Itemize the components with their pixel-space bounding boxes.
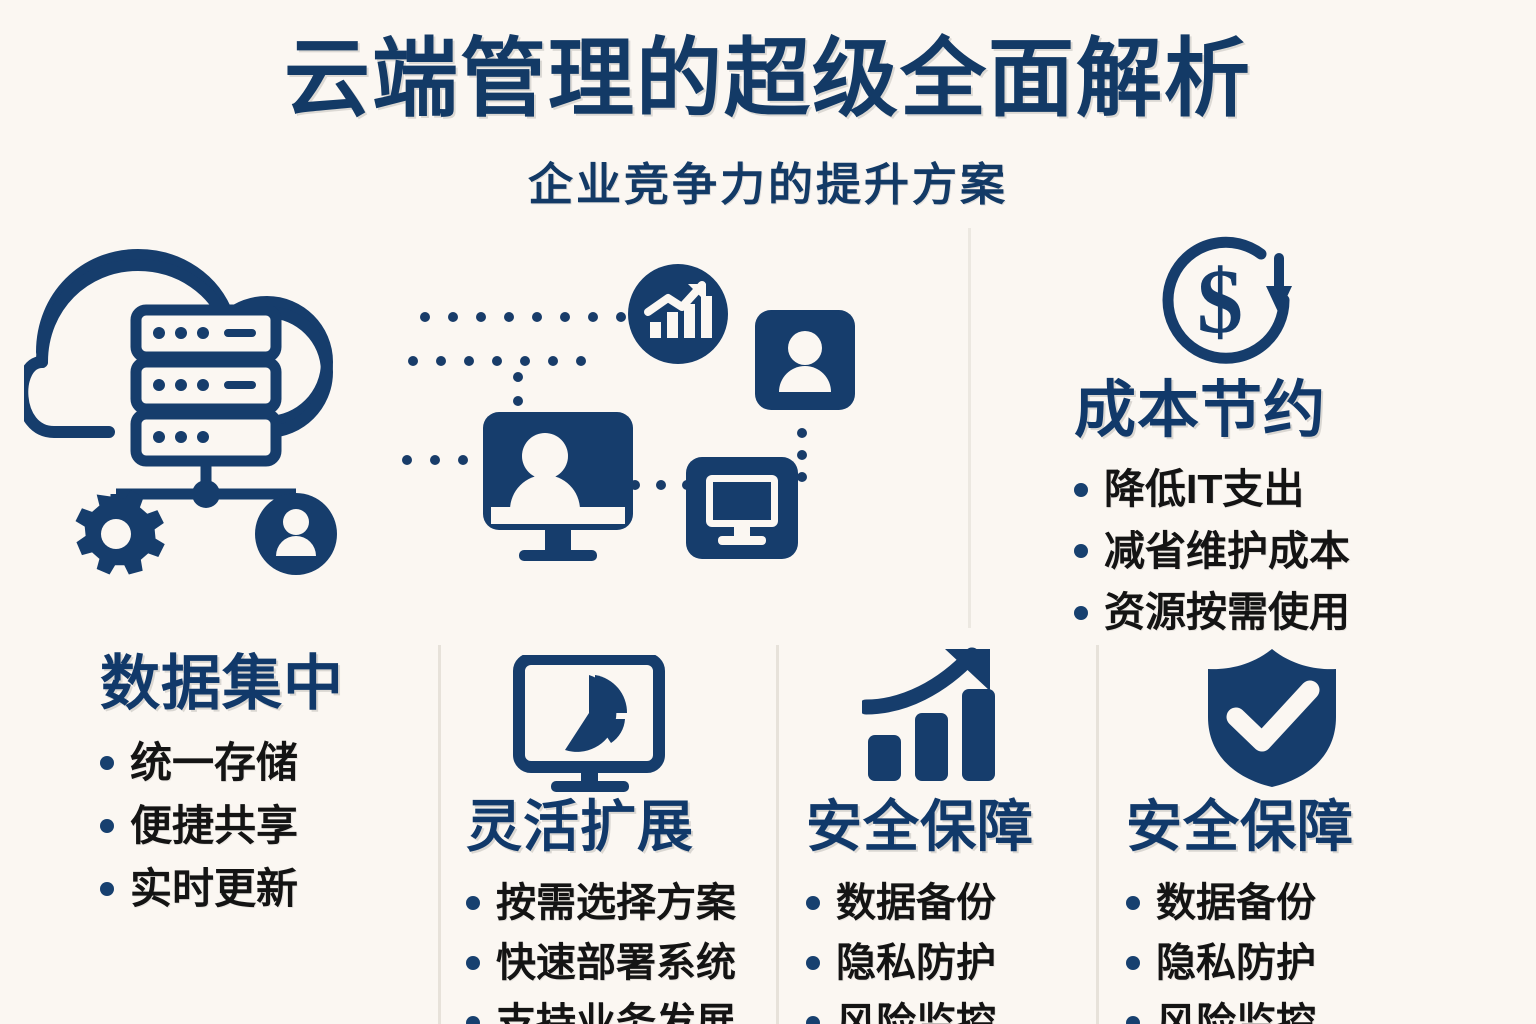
display-icon [686,457,798,564]
bullet-text: 隐私防护 [1156,933,1316,993]
bullet-text: 降低IT支出 [1104,459,1304,521]
bullet-dot [466,956,480,970]
bullet-text: 便捷共享 [130,794,298,857]
cloud-server-icon [24,212,424,632]
bullet-dot [100,882,114,896]
growth-chart-circle-icon [626,262,730,371]
infographic-canvas: 云端管理的超级全面解析 企业竞争力的提升方案 [0,0,1536,1024]
bullet-text: 快速部署系统 [496,933,736,993]
dotted-connector-monitor-display [630,480,692,490]
pie-chart-monitor-icon [505,655,675,800]
block-flexible-scaling: 灵活扩展 按需选择方案 快速部署系统 支持业务发展 [466,798,786,1024]
bullet-text: 实时更新 [130,857,298,920]
bullet-dot [466,1016,480,1024]
list-item: 快速部署系统 [466,933,786,993]
bullet-dot [1074,544,1088,558]
list-item: 实时更新 [100,857,440,920]
page-subtitle: 企业竞争力的提升方案 [0,148,1536,213]
list-item: 隐私防护 [1126,933,1426,993]
list-item: 数据备份 [806,873,1106,933]
bullet-dot [1126,1016,1140,1024]
bullet-text: 隐私防护 [836,933,996,993]
block-cost-heading: 成本节约 [1074,378,1514,443]
bullet-dot [806,956,820,970]
list-item: 统一存储 [100,731,440,794]
user-card-icon [755,310,855,415]
bullet-dot [100,756,114,770]
bullet-dot [1126,896,1140,910]
list-item: 降低IT支出 [1074,459,1514,521]
list-item: 隐私防护 [806,933,1106,993]
bullet-text: 按需选择方案 [496,873,736,933]
svg-text:$: $ [1197,250,1243,352]
bullet-text: 风险监控 [1156,993,1316,1024]
block-cost-saving: 成本节约 降低IT支出 减省维护成本 资源按需使用 [1074,378,1514,644]
dollar-circular-arrow-icon: $ [1148,228,1308,373]
block-security1-heading: 安全保障 [806,798,1106,857]
list-item: 数据备份 [1126,873,1426,933]
block-data-heading: 数据集中 [100,652,440,715]
block-flex-heading: 灵活扩展 [466,798,786,857]
bar-growth-arrow-icon [862,645,1012,790]
bullet-dot [466,896,480,910]
monitor-user-icon [483,412,633,569]
bullet-dot [806,896,820,910]
list-item: 风险监控 [1126,993,1426,1024]
list-item: 减省维护成本 [1074,521,1514,583]
block-data-centralization: 数据集中 统一存储 便捷共享 实时更新 [100,652,440,920]
bullet-text: 数据备份 [1156,873,1316,933]
block-cost-list: 降低IT支出 减省维护成本 资源按需使用 [1074,459,1514,644]
bullet-text: 减省维护成本 [1104,521,1350,583]
list-item: 支持业务发展 [466,993,786,1024]
bullet-dot [1126,956,1140,970]
bullet-dot [1074,606,1088,620]
bullet-text: 风险监控 [836,993,996,1024]
block-security-1: 安全保障 数据备份 隐私防护 风险监控 [806,798,1106,1024]
bullet-text: 统一存储 [130,731,298,794]
page-title: 云端管理的超级全面解析 [0,34,1536,124]
bullet-dot [1074,483,1088,497]
gear-icon [76,490,165,575]
bullet-text: 资源按需使用 [1104,582,1350,644]
shield-check-icon [1202,645,1342,795]
dotted-connector-usercard-display [797,428,807,482]
block-security2-heading: 安全保障 [1126,798,1426,857]
bullet-dot [100,819,114,833]
list-item: 便捷共享 [100,794,440,857]
block-security1-list: 数据备份 隐私防护 风险监控 [806,873,1106,1024]
dotted-connector-mid [408,356,586,366]
block-security-2: 安全保障 数据备份 隐私防护 风险监控 [1126,798,1426,1024]
bullet-dot [806,1016,820,1024]
block-data-list: 统一存储 便捷共享 实时更新 [100,731,440,920]
bullet-text: 支持业务发展 [496,993,736,1024]
block-security2-list: 数据备份 隐私防护 风险监控 [1126,873,1426,1024]
list-item: 风险监控 [806,993,1106,1024]
block-flex-list: 按需选择方案 快速部署系统 支持业务发展 [466,873,786,1024]
user-circle-icon [255,493,337,575]
list-item: 资源按需使用 [1074,582,1514,644]
list-item: 按需选择方案 [466,873,786,933]
bullet-text: 数据备份 [836,873,996,933]
dotted-connector-lower [402,455,496,465]
divider-vertical-center [968,228,971,628]
